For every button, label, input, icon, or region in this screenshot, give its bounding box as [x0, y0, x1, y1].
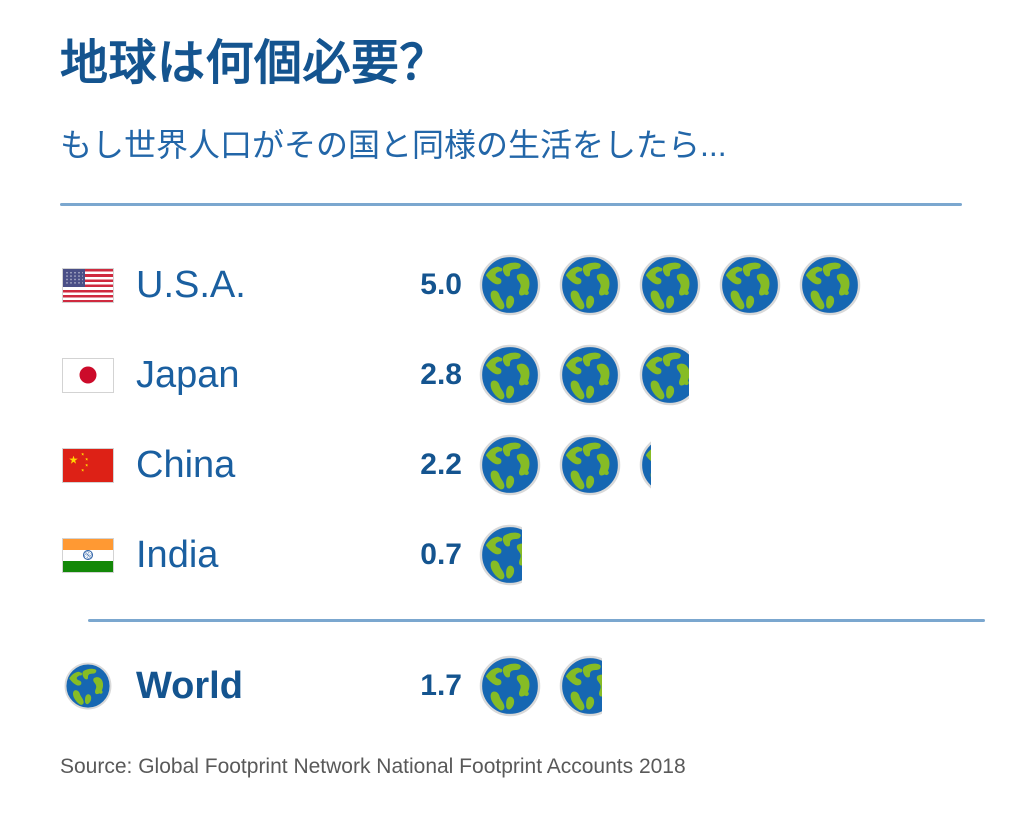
value-label: 0.7 — [330, 540, 462, 570]
value-label: 2.8 — [330, 360, 462, 390]
table-row: U.S.A. 5.0 — [0, 241, 1023, 329]
table-row: India 0.7 — [0, 511, 1023, 599]
globe-icon — [479, 655, 541, 717]
globe-icon — [60, 666, 116, 706]
globe-icon — [559, 434, 621, 496]
globe-icon-partial — [559, 655, 602, 717]
flag-india-icon — [60, 535, 116, 575]
page-title: 地球は何個必要？ — [60, 38, 448, 90]
flag-japan-icon — [60, 355, 116, 395]
value-label: 1.7 — [330, 671, 462, 701]
globe-icon — [559, 344, 621, 406]
value-label: 5.0 — [330, 270, 462, 300]
globe-pictogram — [479, 519, 522, 591]
globe-icon — [479, 254, 541, 316]
source-note: Source: Global Footprint Network Nationa… — [60, 755, 686, 779]
flag-usa-icon — [60, 265, 116, 305]
country-label: World — [136, 667, 243, 705]
globe-icon — [639, 254, 701, 316]
globe-icon — [719, 254, 781, 316]
country-label: Japan — [136, 356, 240, 394]
globe-pictogram — [479, 249, 861, 321]
globe-icon — [479, 434, 541, 496]
table-row: Japan 2.8 — [0, 331, 1023, 419]
globe-pictogram — [479, 650, 602, 722]
infographic-slide: 地球は何個必要？ もし世界人口がその国と同様の生活をしたら... U.S.A. … — [0, 0, 1023, 840]
globe-pictogram — [479, 339, 689, 411]
globe-icon — [799, 254, 861, 316]
table-row: China 2.2 — [0, 421, 1023, 509]
divider-world — [88, 619, 985, 622]
globe-icon — [479, 344, 541, 406]
value-label: 2.2 — [330, 450, 462, 480]
country-label: India — [136, 536, 218, 574]
globe-icon-partial — [639, 344, 689, 406]
globe-icon-partial — [639, 434, 651, 496]
globe-icon-partial — [479, 524, 522, 586]
globe-icon — [559, 254, 621, 316]
globe-pictogram — [479, 429, 651, 501]
country-label: China — [136, 446, 235, 484]
divider-top — [60, 203, 962, 206]
table-row-world: World 1.7 — [0, 642, 1023, 730]
page-subtitle: もし世界人口がその国と同様の生活をしたら... — [60, 127, 727, 164]
country-label: U.S.A. — [136, 266, 246, 304]
flag-china-icon — [60, 445, 116, 485]
globe-icon — [64, 662, 112, 710]
